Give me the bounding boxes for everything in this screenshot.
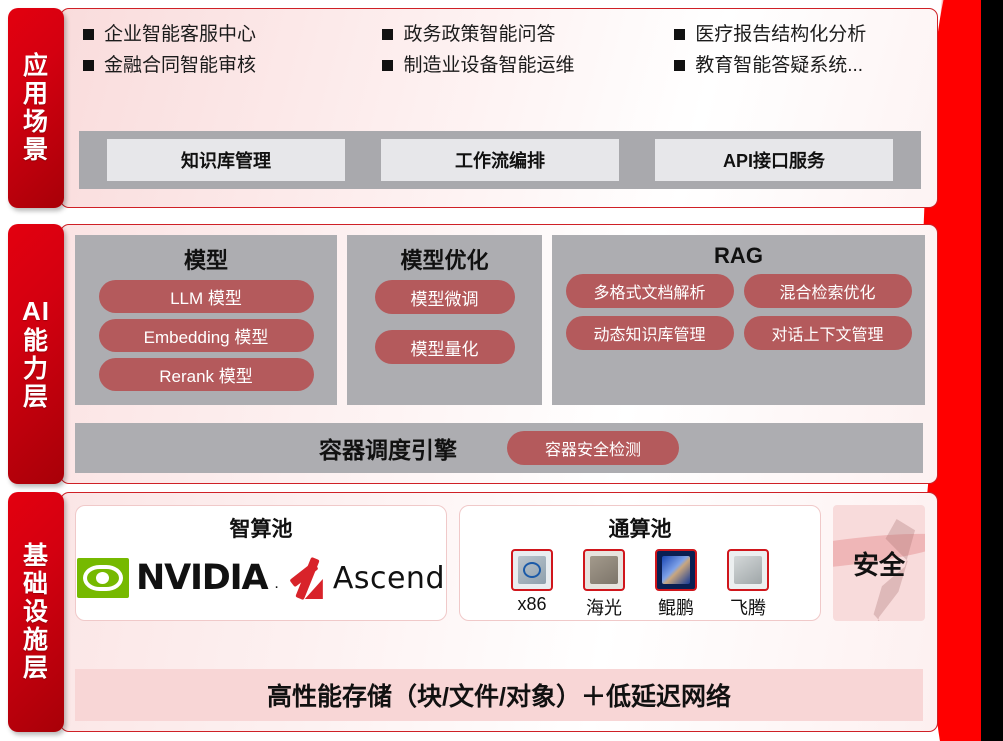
list-item: 政务政策智能问答 [382, 23, 674, 47]
list-item: 医疗报告结构化分析 [674, 23, 927, 47]
tab-char: 础 [23, 570, 49, 598]
scenario-label: 企业智能客服中心 [104, 23, 256, 47]
ai-box-title: RAG [714, 243, 763, 269]
layer-ai-capability: AI 能 力 层 模型 LLM 模型 Embedding 模型 Rerank 模… [8, 224, 938, 484]
scenario-bullet-groups: 企业智能客服中心 金融合同智能审核 政务政策智能问答 制造业设备智能运维 [61, 9, 937, 84]
tab-char: AI [22, 297, 50, 326]
bullet-square-icon [382, 60, 393, 71]
layer-tab-ai-capability[interactable]: AI 能 力 层 [8, 224, 64, 484]
vendor-logos: NVIDIA . Ascend [77, 547, 445, 609]
nvidia-eye-icon [77, 558, 129, 598]
chip-label: 海光 [586, 594, 622, 620]
ascend-mark-icon [287, 557, 327, 599]
security-label: 安全 [853, 545, 905, 582]
ai-box-title: 模型优化 [400, 243, 488, 275]
service-button-knowledge-base[interactable]: 知识库管理 [107, 139, 345, 181]
platform-service-bar: 知识库管理 工作流编排 API接口服务 [79, 131, 921, 189]
pill-dynamic-kb-management[interactable]: 动态知识库管理 [566, 316, 734, 350]
tab-char: 力 [23, 355, 49, 383]
bullet-square-icon [382, 29, 393, 40]
list-item[interactable]: 飞腾 [727, 549, 769, 620]
tab-char: 设 [23, 598, 49, 626]
scenario-column: 企业智能客服中心 金融合同智能审核 [83, 23, 382, 78]
list-item: 制造业设备智能运维 [382, 54, 674, 78]
kunpeng-cpu-icon [655, 549, 697, 591]
scenario-label: 制造业设备智能运维 [403, 54, 574, 78]
ai-box-model-optimization: 模型优化 模型微调 模型量化 [347, 235, 542, 405]
pill-model-quantization[interactable]: 模型量化 [375, 330, 515, 364]
tab-char: 层 [23, 654, 49, 682]
phytium-cpu-icon [727, 549, 769, 591]
rag-pill-grid: 多格式文档解析 混合检索优化 动态知识库管理 对话上下文管理 [562, 274, 915, 350]
bullet-square-icon [674, 29, 685, 40]
pool-title: 智算池 [230, 513, 293, 543]
ai-box-rag: RAG 多格式文档解析 混合检索优化 动态知识库管理 对话上下文管理 [552, 235, 925, 405]
ascend-wordmark: Ascend [333, 561, 445, 596]
hygon-cpu-icon [583, 549, 625, 591]
tab-char: 层 [23, 383, 49, 411]
ai-capability-columns: 模型 LLM 模型 Embedding 模型 Rerank 模型 模型优化 模型… [61, 225, 937, 405]
pool-general-compute: 通算池 x86 海光 鲲鹏 [459, 505, 821, 621]
chip-label: x86 [517, 594, 546, 615]
service-button-api[interactable]: API接口服务 [655, 139, 893, 181]
storage-network-bar: 高性能存储（块/文件/对象）＋低延迟网络 [75, 669, 923, 721]
architecture-diagram: 应 用 场 景 企业智能客服中心 金融合同智能审核 [0, 0, 1003, 741]
ascend-logo: Ascend [287, 557, 445, 599]
chip-label: 鲲鹏 [658, 594, 694, 620]
pill-hybrid-retrieval-optimization[interactable]: 混合检索优化 [744, 274, 912, 308]
pill-llm-model[interactable]: LLM 模型 [99, 280, 314, 313]
security-panel: 安全 [833, 505, 925, 621]
layer-application-scenarios: 应 用 场 景 企业智能客服中心 金融合同智能审核 [8, 8, 938, 208]
chip-label: 飞腾 [730, 594, 766, 620]
pill-dialog-context-management[interactable]: 对话上下文管理 [744, 316, 912, 350]
tab-char: 施 [23, 626, 49, 654]
tab-char: 景 [23, 136, 49, 164]
scenario-label: 医疗报告结构化分析 [695, 23, 866, 47]
ai-box-title: 模型 [184, 243, 228, 275]
layer-body-infrastructure: 智算池 NVIDIA . Ascend [60, 492, 938, 732]
storage-network-label: 高性能存储（块/文件/对象）＋低延迟网络 [267, 677, 731, 713]
nvidia-trademark-dot: . [274, 575, 278, 598]
pool-title: 通算池 [609, 513, 672, 543]
tab-char: 用 [23, 80, 49, 108]
bullet-square-icon [83, 60, 94, 71]
pill-embedding-model[interactable]: Embedding 模型 [99, 319, 314, 352]
list-item: 企业智能客服中心 [83, 23, 382, 47]
tab-char: 场 [23, 108, 49, 136]
bullet-square-icon [83, 29, 94, 40]
container-scheduling-engine-bar: 容器调度引擎 容器安全检测 [75, 423, 923, 473]
pill-multiformat-doc-parsing[interactable]: 多格式文档解析 [566, 274, 734, 308]
scenario-label: 政务政策智能问答 [403, 23, 555, 47]
tab-char: 应 [23, 52, 49, 80]
list-item: 金融合同智能审核 [83, 54, 382, 78]
scenario-label: 金融合同智能审核 [104, 54, 256, 78]
cpu-chip-list: x86 海光 鲲鹏 飞腾 [511, 547, 769, 620]
pool-smart-compute: 智算池 NVIDIA . Ascend [75, 505, 447, 621]
bullet-square-icon [674, 60, 685, 71]
list-item[interactable]: 海光 [583, 549, 625, 620]
scenario-column: 医疗报告结构化分析 教育智能答疑系统... [674, 23, 927, 78]
pill-rerank-model[interactable]: Rerank 模型 [99, 358, 314, 391]
intel-cpu-icon [511, 549, 553, 591]
scenario-column: 政务政策智能问答 制造业设备智能运维 [382, 23, 674, 78]
compute-pools-row: 智算池 NVIDIA . Ascend [61, 493, 937, 621]
ai-box-models: 模型 LLM 模型 Embedding 模型 Rerank 模型 [75, 235, 337, 405]
layer-tab-application-scenarios[interactable]: 应 用 场 景 [8, 8, 64, 208]
service-button-workflow[interactable]: 工作流编排 [381, 139, 619, 181]
tab-char: 能 [23, 327, 49, 355]
engine-title: 容器调度引擎 [319, 431, 457, 465]
nvidia-wordmark: NVIDIA [136, 558, 267, 598]
layer-infrastructure: 基 础 设 施 层 智算池 NVIDIA . [8, 492, 938, 732]
list-item[interactable]: 鲲鹏 [655, 549, 697, 620]
list-item[interactable]: x86 [511, 549, 553, 620]
tab-char: 基 [23, 542, 49, 570]
nvidia-logo: NVIDIA . [77, 558, 279, 598]
layer-tab-infrastructure[interactable]: 基 础 设 施 层 [8, 492, 64, 732]
list-item: 教育智能答疑系统... [674, 54, 927, 78]
pill-container-security-scan[interactable]: 容器安全检测 [507, 431, 679, 465]
pill-model-finetune[interactable]: 模型微调 [375, 280, 515, 314]
scenario-label: 教育智能答疑系统... [695, 54, 863, 78]
layer-body-ai-capability: 模型 LLM 模型 Embedding 模型 Rerank 模型 模型优化 模型… [60, 224, 938, 484]
layer-body-application-scenarios: 企业智能客服中心 金融合同智能审核 政务政策智能问答 制造业设备智能运维 [60, 8, 938, 208]
